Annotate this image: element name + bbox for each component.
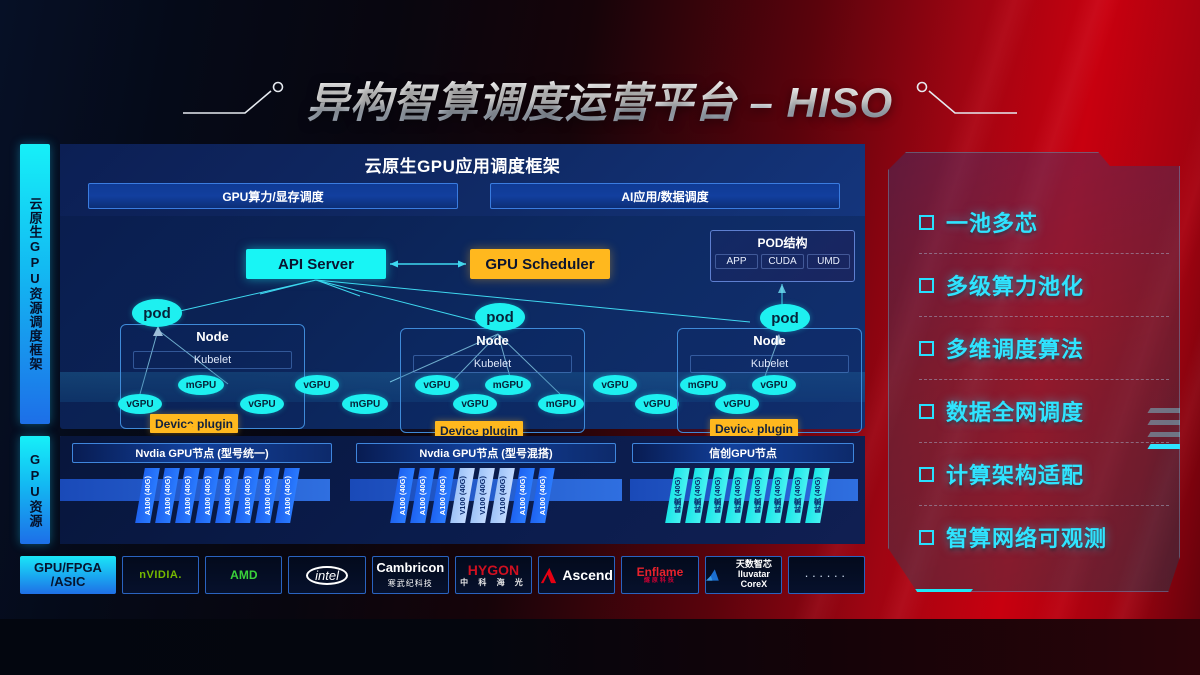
ascend-name: Ascend: [562, 567, 613, 583]
gpu-card-label: A100 (40G): [163, 476, 172, 515]
pod-structure-box: POD结构 APP CUDA UMD: [710, 230, 855, 282]
gpu-pill[interactable]: mGPU: [680, 375, 726, 395]
node-title: Node: [401, 333, 584, 348]
gpu-pill[interactable]: vGPU: [715, 394, 759, 414]
cambricon-logo-icon: Cambricon 寒武纪科技: [376, 561, 444, 588]
gpu-pill[interactable]: mGPU: [178, 375, 224, 395]
gpu-card-strip-2: A100 (40G)A100 (40G)A100 (40G)V100 (40G)…: [395, 468, 550, 523]
gpu-pill[interactable]: vGPU: [295, 375, 339, 395]
vendor-intel[interactable]: intel: [288, 556, 365, 594]
gpu-pill[interactable]: vGPU: [118, 394, 162, 414]
kubelet-bar: Kubelet: [690, 355, 849, 373]
feature-item-3[interactable]: 多维调度算法: [919, 317, 1169, 379]
vendor-cambricon[interactable]: Cambricon 寒武纪科技: [372, 556, 449, 594]
nvidia-logo-icon: nVIDIA.: [139, 569, 182, 581]
pod-structure-title: POD结构: [711, 234, 854, 251]
hygon-name: HYGON: [468, 562, 519, 578]
gpu-card-label: 昇腾 (40G): [672, 477, 683, 513]
vendor-amd[interactable]: AMD: [205, 556, 282, 594]
gpu-card-label: 昇腾 (40G): [752, 477, 763, 513]
checkbox-icon: [919, 467, 934, 482]
vendor-nvidia[interactable]: nVIDIA.: [122, 556, 199, 594]
architecture-diagram: 云原生GPU资源调度框架 GPU资源 云原生GPU应用调度框架 GPU算力/显存…: [20, 144, 865, 604]
gpu-scheduler-box[interactable]: GPU Scheduler: [470, 249, 610, 279]
framework-title: 云原生GPU应用调度框架: [60, 152, 865, 177]
gpu-card-label: 昇腾 (40G): [792, 477, 803, 513]
intel-logo-icon: intel: [306, 566, 348, 585]
subbar-gpu-compute[interactable]: GPU算力/显存调度: [88, 183, 458, 209]
checkbox-icon: [919, 530, 934, 545]
gpu-card-label: A100 (40G): [183, 476, 192, 515]
gpu-pill[interactable]: mGPU: [342, 394, 388, 414]
vendor-logo-row: GPU/FPGA /ASIC nVIDIA. AMD intel Cambric…: [20, 556, 865, 594]
title-decoration-right: [907, 79, 1017, 119]
vendor-ascend[interactable]: Ascend: [538, 556, 615, 594]
title-decoration-left: [183, 79, 293, 119]
vendor-lead-line2: /ASIC: [51, 575, 86, 589]
gpu-pill[interactable]: vGPU: [635, 394, 679, 414]
iluvatar-mark-icon: [706, 567, 724, 583]
cambricon-sub: 寒武纪科技: [388, 579, 433, 588]
feature-item-4[interactable]: 数据全网调度: [919, 380, 1169, 442]
subbar-ai-data[interactable]: AI应用/数据调度: [490, 183, 840, 209]
feature-panel: 一池多芯多级算力池化多维调度算法数据全网调度计算架构适配智算网络可观测: [888, 152, 1180, 592]
iluvatar-sub: Iluvatar CoreX: [738, 569, 770, 589]
gpu-card-strip-3: 昇腾 (40G)昇腾 (40G)昇腾 (40G)昇腾 (40G)昇腾 (40G)…: [670, 468, 825, 523]
gpu-group-label-2: Nvdia GPU节点 (型号混搭): [356, 443, 616, 463]
gpu-group-label-3: 信创GPU节点: [632, 443, 854, 463]
gpu-pill[interactable]: vGPU: [593, 375, 637, 395]
iluvatar-logo-icon: 天数智芯 Iluvatar CoreX: [727, 560, 781, 590]
gpu-pill[interactable]: vGPU: [453, 394, 497, 414]
slide-canvas: 异构智算调度运营平台 – HISO 云原生GPU资源调度框架 GPU资源 云原生…: [0, 0, 1200, 675]
ascend-mark-icon: [540, 567, 557, 584]
vendor-lead-label: GPU/FPGA /ASIC: [20, 556, 116, 594]
hygon-logo-icon: HYGON 中 科 海 光: [460, 563, 527, 587]
iluvatar-name: 天数智芯: [736, 559, 772, 569]
pod-cell-cuda: CUDA: [761, 254, 804, 269]
gpu-card-label: A100 (40G): [418, 476, 427, 515]
gpu-card-strip-1: A100 (40G)A100 (40G)A100 (40G)A100 (40G)…: [140, 468, 295, 523]
gpu-card-label: A100 (40G): [283, 476, 292, 515]
gpu-card-label: A100 (40G): [398, 476, 407, 515]
gpu-pill[interactable]: vGPU: [240, 394, 284, 414]
pod-cell-umd: UMD: [807, 254, 850, 269]
framework-header: 云原生GPU应用调度框架 GPU算力/显存调度 AI应用/数据调度: [60, 144, 865, 216]
kubelet-bar: Kubelet: [413, 355, 572, 373]
device-plugin-1[interactable]: Device plugin: [150, 414, 238, 433]
vendor-more[interactable]: ······: [788, 556, 865, 594]
enflame-name: Enflame: [637, 565, 684, 579]
gpu-card-label: 昇腾 (40G): [692, 477, 703, 513]
amd-logo-icon: AMD: [230, 568, 257, 582]
panel-corner-tab: [877, 589, 973, 603]
vendor-lead-line1: GPU/FPGA: [34, 561, 102, 575]
gpu-card-label: V100 (40G): [478, 476, 487, 515]
api-server-box[interactable]: API Server: [246, 249, 386, 279]
gpu-group-label-1: Nvdia GPU节点 (型号统一): [72, 443, 332, 463]
vendor-hygon[interactable]: HYGON 中 科 海 光: [455, 556, 532, 594]
gpu-card-label: V100 (40G): [498, 476, 507, 515]
node-title: Node: [121, 329, 304, 344]
gpu-pill[interactable]: vGPU: [752, 375, 796, 395]
cambricon-name: Cambricon: [376, 560, 444, 575]
checkbox-icon: [919, 404, 934, 419]
gpu-card-label: A100 (40G): [243, 476, 252, 515]
pod-cell-app: APP: [715, 254, 758, 269]
feature-item-5[interactable]: 计算架构适配: [919, 443, 1169, 505]
framework-panel: 云原生GPU应用调度框架 GPU算力/显存调度 AI应用/数据调度: [60, 144, 865, 429]
vendor-iluvatar[interactable]: 天数智芯 Iluvatar CoreX: [705, 556, 782, 594]
enflame-logo-icon: Enflame 燧原科技: [637, 566, 684, 584]
gpu-card-label: 昇腾 (40G): [812, 477, 823, 513]
hygon-sub: 中 科 海 光: [460, 579, 527, 587]
checkbox-icon: [919, 215, 934, 230]
feature-list: 一池多芯多级算力池化多维调度算法数据全网调度计算架构适配智算网络可观测: [919, 191, 1169, 568]
gpu-card-label: A100 (40G): [263, 476, 272, 515]
ellipsis-icon: ······: [804, 568, 848, 583]
gpu-pill[interactable]: mGPU: [485, 375, 531, 395]
gpu-card-label: A100 (40G): [143, 476, 152, 515]
feature-label: 多维调度算法: [946, 332, 1084, 364]
gpu-resource-panel: Nvdia GPU节点 (型号统一) Nvdia GPU节点 (型号混搭) 信创…: [60, 436, 865, 544]
gpu-card-label: 昇腾 (40G): [712, 477, 723, 513]
kubelet-bar: Kubelet: [133, 351, 292, 369]
checkbox-icon: [919, 278, 934, 293]
page-title: 异构智算调度运营平台 – HISO: [307, 69, 893, 130]
gpu-card-label: A100 (40G): [438, 476, 447, 515]
vertical-label-gpu-resource: GPU资源: [20, 436, 50, 544]
gpu-card-label: A100 (40G): [203, 476, 212, 515]
feature-item-2[interactable]: 多级算力池化: [919, 254, 1169, 316]
gpu-card-label: 昇腾 (40G): [772, 477, 783, 513]
vendor-enflame[interactable]: Enflame 燧原科技: [621, 556, 698, 594]
feature-label: 一池多芯: [946, 206, 1038, 238]
vertical-label-framework: 云原生GPU资源调度框架: [20, 144, 50, 424]
gpu-pill[interactable]: vGPU: [415, 375, 459, 395]
gpu-pill[interactable]: mGPU: [538, 394, 584, 414]
checkbox-icon: [919, 341, 934, 356]
feature-label: 计算架构适配: [946, 458, 1084, 490]
gpu-card-label: 昇腾 (40G): [732, 477, 743, 513]
pod-2[interactable]: pod: [475, 303, 525, 331]
feature-item-6[interactable]: 智算网络可观测: [919, 506, 1169, 568]
feature-item-1[interactable]: 一池多芯: [919, 191, 1169, 253]
gpu-card-label: A100 (40G): [518, 476, 527, 515]
gpu-card-label: A100 (40G): [538, 476, 547, 515]
gpu-card-label: V100 (40G): [458, 476, 467, 515]
feature-label: 智算网络可观测: [946, 521, 1107, 553]
pod-3[interactable]: pod: [760, 304, 810, 332]
feature-label: 数据全网调度: [946, 395, 1084, 427]
node-title: Node: [678, 333, 861, 348]
gpu-card-label: A100 (40G): [223, 476, 232, 515]
pod-1[interactable]: pod: [132, 299, 182, 327]
title-row: 异构智算调度运营平台 – HISO: [0, 60, 1200, 138]
feature-label: 多级算力池化: [946, 269, 1084, 301]
